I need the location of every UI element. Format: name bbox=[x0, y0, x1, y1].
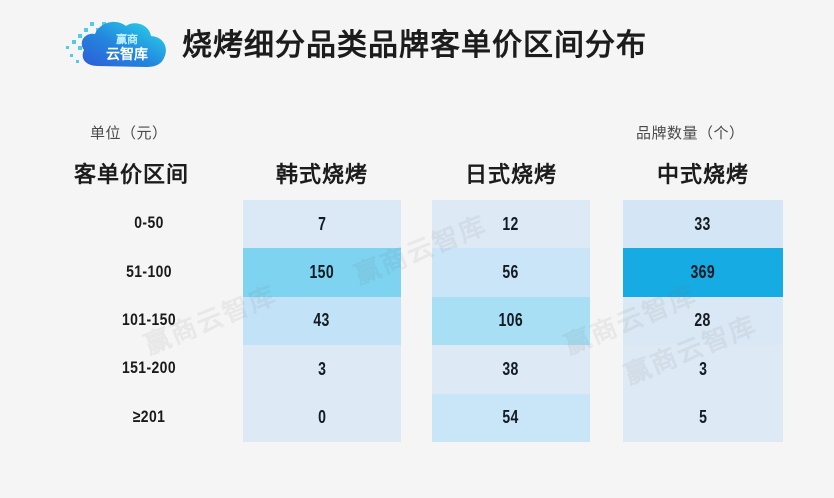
heatmap-cell: 54 bbox=[432, 394, 590, 442]
heatmap-cell: 5 bbox=[623, 394, 783, 442]
column-header-korean-bbq: 韩式烧烤 bbox=[243, 160, 401, 190]
heatmap-cell: 3 bbox=[623, 345, 783, 393]
heatmap-cell: 43 bbox=[243, 297, 401, 345]
price-range-heatmap-table: 客单价区间 韩式烧烤 日式烧烤 中式烧烤 0-507123351-1001505… bbox=[0, 0, 834, 498]
row-label-51100: 51-100 bbox=[88, 262, 211, 282]
heatmap-cell: 12 bbox=[432, 200, 590, 248]
heatmap-cell-value: 3 bbox=[699, 359, 707, 380]
heatmap-cell: 7 bbox=[243, 200, 401, 248]
heatmap-cell: 28 bbox=[623, 297, 783, 345]
heatmap-cell: 0 bbox=[243, 394, 401, 442]
row-label-201: ≥201 bbox=[88, 407, 211, 427]
heatmap-cell: 33 bbox=[623, 200, 783, 248]
column-header-japanese-bbq: 日式烧烤 bbox=[432, 160, 590, 190]
column-header-price-range: 客单价区间 bbox=[74, 160, 222, 190]
heatmap-cell-value: 3 bbox=[318, 359, 326, 380]
heatmap-cell: 150 bbox=[243, 248, 401, 296]
row-label-151200: 151-200 bbox=[88, 358, 211, 378]
heatmap-cell-value: 7 bbox=[318, 214, 326, 235]
heatmap-cell: 38 bbox=[432, 345, 590, 393]
heatmap-cell-value: 38 bbox=[503, 359, 519, 380]
heatmap-cell: 369 bbox=[623, 248, 783, 296]
heatmap-cell: 3 bbox=[243, 345, 401, 393]
heatmap-cell-value: 56 bbox=[503, 262, 519, 283]
heatmap-cell-value: 43 bbox=[314, 310, 330, 331]
heatmap-cell: 106 bbox=[432, 297, 590, 345]
heatmap-cell-value: 369 bbox=[691, 262, 716, 283]
row-label-101150: 101-150 bbox=[88, 310, 211, 330]
heatmap-cell-value: 150 bbox=[310, 262, 335, 283]
heatmap-cell-value: 33 bbox=[695, 214, 711, 235]
heatmap-cell-value: 28 bbox=[695, 310, 711, 331]
heatmap-cell: 56 bbox=[432, 248, 590, 296]
column-header-chinese-bbq: 中式烧烤 bbox=[623, 160, 783, 190]
heatmap-cell-value: 54 bbox=[503, 407, 519, 428]
heatmap-cell-value: 12 bbox=[503, 214, 519, 235]
heatmap-cell-value: 5 bbox=[699, 407, 707, 428]
heatmap-cell-value: 106 bbox=[499, 310, 524, 331]
row-label-050: 0-50 bbox=[88, 213, 211, 233]
heatmap-cell-value: 0 bbox=[318, 407, 326, 428]
